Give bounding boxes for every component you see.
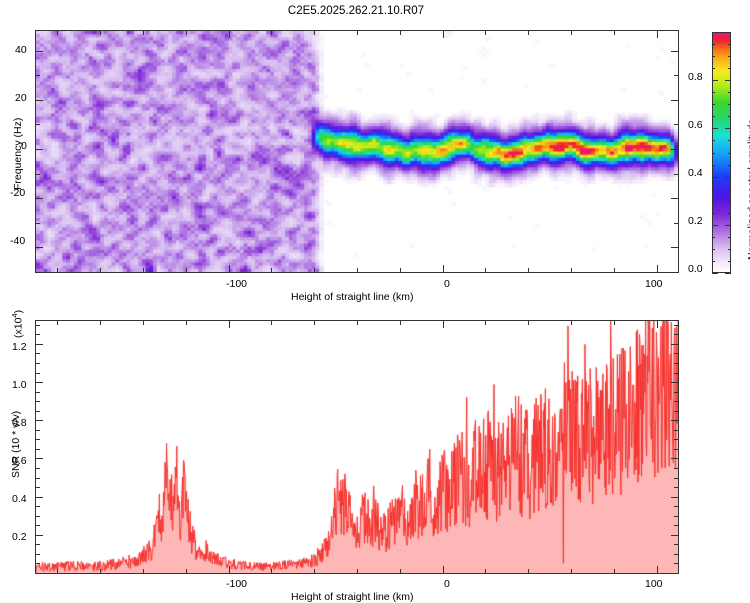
snr-exponent-text: (x10 bbox=[13, 318, 25, 338]
colorbar-tick-label: 0.8 bbox=[688, 71, 703, 83]
axis-tick bbox=[712, 273, 718, 274]
spectrogram-yaxis-label: Frequency (Hz) bbox=[12, 118, 24, 190]
snr-yaxis-label: SNR (10 * v/v) bbox=[10, 411, 22, 478]
colorbar-tick-label: 0.2 bbox=[688, 215, 703, 227]
colorbar-tick-label: 0.6 bbox=[688, 119, 703, 131]
snr-xtick-label: 0 bbox=[444, 578, 450, 590]
spectrogram-xtick-label: 0 bbox=[444, 278, 450, 290]
spectrogram-plot-area bbox=[35, 30, 679, 273]
snr-xtick-label: 100 bbox=[645, 578, 663, 590]
colorbar-tick-label: 0.0 bbox=[688, 263, 703, 275]
snr-plot-area bbox=[35, 320, 679, 574]
snr-ytick-label: 1.2 bbox=[12, 341, 27, 353]
snr-xtick-label: -100 bbox=[226, 578, 247, 590]
spectrogram-ytick-label: -40 bbox=[10, 235, 25, 247]
snr-exponent-sup: 4 bbox=[10, 313, 19, 317]
figure-title: C2E5.2025.262.21.10.R07 bbox=[0, 5, 712, 17]
snr-xaxis-label: Height of straight line (km) bbox=[291, 591, 414, 603]
snr-ytick-label: 1.0 bbox=[12, 379, 27, 391]
snr-exponent-label: (x104) bbox=[10, 310, 25, 338]
spectrogram-xaxis-label: Height of straight line (km) bbox=[291, 291, 414, 303]
spectrogram-ytick-label: 40 bbox=[15, 44, 27, 56]
snr-exponent-close: ) bbox=[13, 310, 25, 314]
snr-ytick-label: 0.2 bbox=[12, 531, 27, 543]
colorbar-tick-label: 0.4 bbox=[688, 167, 703, 179]
snr-ytick-label: 0.4 bbox=[12, 493, 27, 505]
spectrogram-xtick-label: 100 bbox=[645, 278, 663, 290]
axis-tick bbox=[725, 273, 731, 274]
spectrogram-ytick-label: 20 bbox=[15, 92, 27, 104]
spectrogram-xtick-label: -100 bbox=[226, 278, 247, 290]
colorbar-axis-label: Normalized spectral amplitude bbox=[746, 119, 750, 260]
colorbar-gradient bbox=[712, 32, 731, 273]
